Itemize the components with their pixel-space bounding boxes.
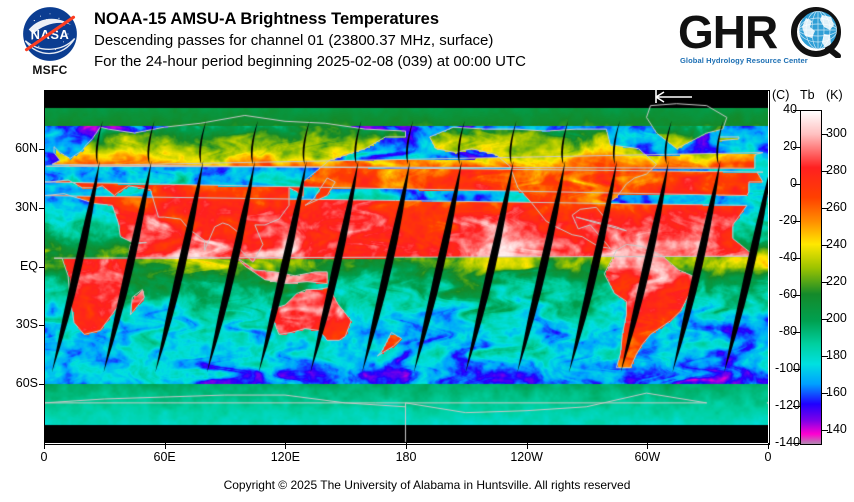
nasa-meatball-icon: NASA [22,6,78,62]
colorbar-tick [821,393,828,394]
node-arrow-icon [652,88,694,104]
colorbar-kelvin-header: (K) [826,88,843,102]
colorbar-tick [821,282,828,283]
colorbar-celsius-tick: -100 [775,361,797,375]
colorbar-tick [793,221,800,222]
longitude-label: 60W [627,450,667,464]
axis-tick [285,443,286,449]
colorbar-celsius-tick: -60 [775,287,797,301]
axis-tick [527,443,528,449]
colorbar-kelvin-tick: 200 [826,311,854,325]
longitude-label: 180 [386,450,426,464]
latitude-label: 60N [0,141,38,155]
colorbar-tick [821,134,828,135]
colorbar-kelvin-tick: 240 [826,237,854,251]
colorbar-kelvin-tick: 180 [826,348,854,362]
axis-tick [768,443,769,449]
colorbar-celsius-tick: -80 [775,324,797,338]
colorbar-celsius-tick: 40 [775,102,797,116]
colorbar-celsius-tick: 20 [775,139,797,153]
colorbar-celsius-tick: -40 [775,250,797,264]
colorbar-tick [793,147,800,148]
colorbar-tick [821,430,828,431]
colorbar-tick [793,258,800,259]
longitude-label: 120E [265,450,305,464]
colorbar-kelvin-tick: 300 [826,126,854,140]
colorbar-kelvin-tick: 140 [826,422,854,436]
latitude-label: EQ [0,259,38,273]
page-title: NOAA-15 AMSU-A Brightness Temperatures [94,9,654,30]
colorbar-tick [793,369,800,370]
nasa-logo: NASA MSFC [14,6,86,84]
colorbar-celsius-header: (C) [772,88,789,102]
colorbar-tick [793,295,800,296]
colorbar-celsius-tick: -20 [775,213,797,227]
ghrc-logo: GHR Global Hydrology Resource Center [676,6,848,72]
axis-tick [39,208,45,209]
colorbar-tick [821,208,828,209]
colorbar-tick [821,245,828,246]
longitude-label: 60E [145,450,185,464]
copyright-notice: Copyright © 2025 The University of Alaba… [0,478,854,492]
longitude-label: 120W [507,450,547,464]
longitude-label: 0 [748,450,788,464]
colorbar-celsius-tick: -140 [775,435,797,449]
title-block: NOAA-15 AMSU-A Brightness Temperatures D… [94,9,654,72]
colorbar-tick [793,110,800,111]
colorbar-tick [821,356,828,357]
colorbar-tick [793,184,800,185]
colorbar-tick [821,319,828,320]
ghrc-wordmark-icon: GHR [676,6,848,58]
longitude-label: 0 [24,450,64,464]
axis-tick [39,149,45,150]
colorbar-gradient [801,111,821,444]
colorbar-kelvin-tick: 280 [826,163,854,177]
colorbar-tb-header: Tb [800,88,815,102]
channel-subtitle: Descending passes for channel 01 (23800.… [94,30,654,51]
period-subtitle: For the 24-hour period beginning 2025-02… [94,51,654,72]
colorbar [800,110,822,445]
ghrc-subtitle: Global Hydrology Resource Center [680,56,846,65]
latitude-label: 30N [0,200,38,214]
axis-tick [165,443,166,449]
brightness-temperature-map[interactable] [44,90,768,443]
colorbar-kelvin-tick: 260 [826,200,854,214]
colorbar-tick [793,443,800,444]
svg-text:GHR: GHR [678,6,778,58]
axis-tick [39,325,45,326]
axis-tick [39,384,45,385]
axis-tick [39,267,45,268]
map-raster [44,90,768,443]
nasa-center-label: MSFC [14,63,86,77]
colorbar-celsius-tick: -120 [775,398,797,412]
colorbar-celsius-tick: 0 [775,176,797,190]
colorbar-kelvin-tick: 220 [826,274,854,288]
colorbar-tick [821,171,828,172]
axis-tick [406,443,407,449]
latitude-label: 30S [0,317,38,331]
latitude-label: 60S [0,376,38,390]
colorbar-tick [793,406,800,407]
colorbar-tick [793,332,800,333]
noaa-brightness-temperature-page: NASA MSFC NOAA-15 AMSU-A Brightness Temp… [0,0,854,502]
axis-tick [44,443,45,449]
colorbar-kelvin-tick: 160 [826,385,854,399]
axis-tick [647,443,648,449]
